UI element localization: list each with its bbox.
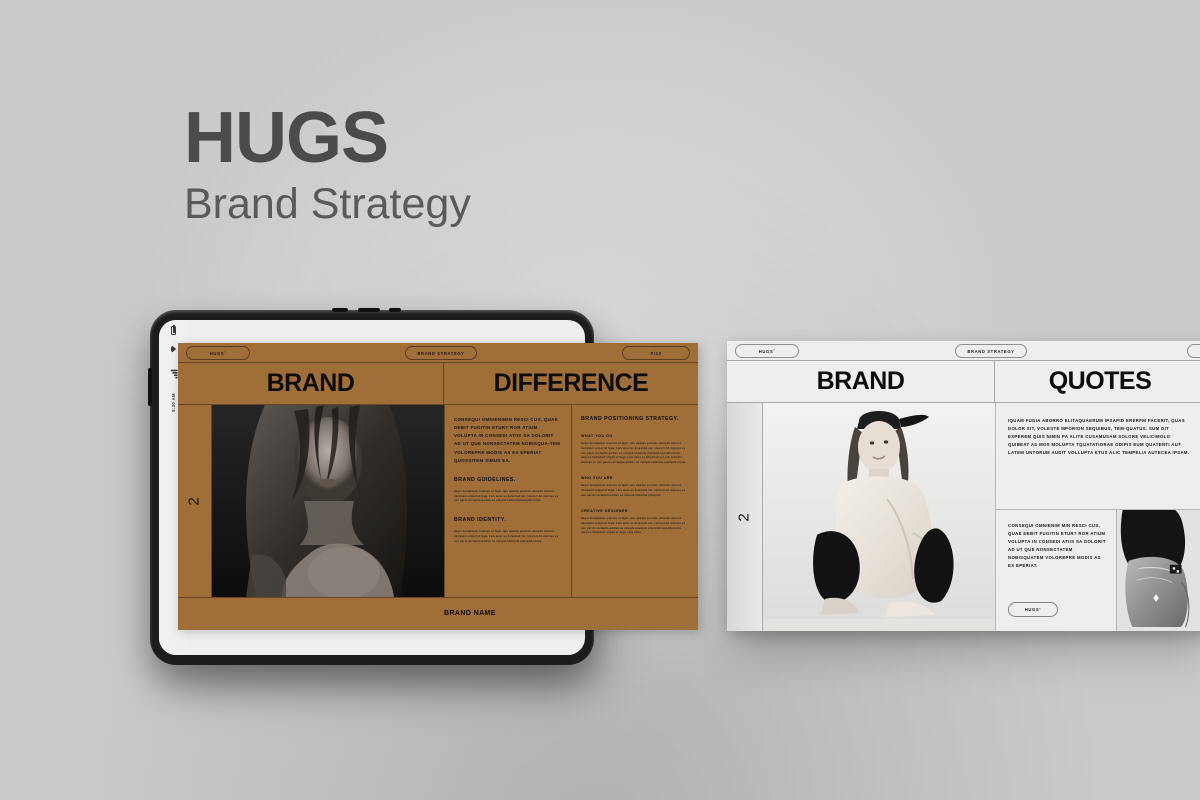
- positioning-strategy-title: BRAND POSITIONING STRATEGY.: [581, 416, 689, 424]
- slide2-brand-pill-center[interactable]: BRAND STRATEGY: [955, 344, 1027, 358]
- slide1-page-number: 2: [186, 497, 203, 505]
- slide1-page-number-column: 2: [178, 405, 212, 597]
- block-body-brand-guidelines: Sequi berupiatem reminus ut fugit, quo q…: [454, 490, 562, 505]
- slide2-brand-pill-left-label: HUGS: [759, 349, 774, 354]
- body-creative-designer: Sequi berupiatem reminus ut fugit, quo q…: [581, 517, 689, 537]
- body-what-you-do: Sequi berupiatem reminus ut fugit, quo q…: [581, 442, 689, 466]
- brand-pill-left[interactable]: HUGS°: [186, 346, 250, 360]
- body-who-you-are: Sequi berupiatem reminus ut fugit, quo q…: [581, 484, 689, 499]
- slide-brand-difference[interactable]: HUGS° BRAND STRATEGY P/13 BRAND DIFFEREN…: [178, 343, 698, 630]
- slide2-degree-icon: °: [773, 349, 775, 353]
- slide1-topbar: HUGS° BRAND STRATEGY P/13: [178, 343, 698, 363]
- block-title-brand-guidelines: BRAND GUIDELINES.: [454, 477, 562, 485]
- slide2-photo: [763, 403, 995, 631]
- slide1-intro-paragraph: CONSEQUI OMNIENIMIN RESCI CUS, QUAE DEBI…: [454, 416, 562, 465]
- denim-photo-icon: [1117, 510, 1200, 627]
- slide2-heading-row: BRAND QUOTES: [727, 361, 1200, 403]
- slide2-right-panel: IQUAM FUGIA ABORRO ELITAQUAERUM IPSAPID …: [995, 403, 1200, 631]
- slide2-bottom-brand-pill[interactable]: HUGS°: [1008, 602, 1058, 617]
- heading-right-cell: DIFFERENCE: [444, 363, 698, 404]
- heading-difference: DIFFERENCE: [494, 371, 649, 396]
- battery-icon: [171, 326, 176, 335]
- slide2-heading-brand: BRAND: [817, 369, 905, 394]
- cover-title-block: HUGS Brand Strategy: [184, 104, 471, 232]
- slide2-heading-left-cell: BRAND: [727, 361, 995, 402]
- slide-brand-quotes[interactable]: HUGS° BRAND STRATEGY BRAND QUOTES 2: [727, 341, 1200, 631]
- page-subtitle: Brand Strategy: [184, 178, 471, 232]
- slide2-lower-text: CONSEQUI OMNIENIM MIN RESCI CUS, QUAE DE…: [996, 510, 1116, 631]
- slide2-brand-pill-left[interactable]: HUGS°: [735, 344, 799, 358]
- slide2-page-indicator-pill[interactable]: [1187, 344, 1200, 358]
- page-title: HUGS: [184, 104, 471, 172]
- volume-up-button[interactable]: [332, 308, 348, 312]
- slide2-lower-paragraph: CONSEQUI OMNIENIM MIN RESCI CUS, QUAE DE…: [1008, 522, 1106, 570]
- slide2-page-number-column: 2: [727, 403, 763, 631]
- volume-down-button[interactable]: [358, 308, 380, 312]
- footer-brand-name: BRAND NAME: [444, 610, 496, 617]
- slide2-heading-quotes: QUOTES: [1049, 369, 1152, 394]
- slide2-page-number: 2: [736, 513, 753, 521]
- slide2-bottom-brand-label: HUGS: [1025, 607, 1040, 612]
- portrait-photo-icon: [212, 405, 444, 597]
- brand-pill-center[interactable]: BRAND STRATEGY: [405, 346, 477, 360]
- slide1-heading-row: BRAND DIFFERENCE: [178, 363, 698, 405]
- slide2-quote-paragraph: IQUAM FUGIA ABORRO ELITAQUAERUM IPSAPID …: [1008, 417, 1193, 457]
- page-indicator-label: P/13: [650, 351, 661, 356]
- slide2-brand-pill-center-label: BRAND STRATEGY: [967, 349, 1014, 354]
- side-button[interactable]: [148, 368, 152, 406]
- degree-icon: °: [224, 351, 226, 355]
- slide2-topbar: HUGS° BRAND STRATEGY: [727, 341, 1200, 361]
- slide1-photo: [212, 405, 444, 597]
- slide2-body: 2: [727, 403, 1200, 631]
- slide1-body: 2: [178, 405, 698, 597]
- slide1-column-right: BRAND POSITIONING STRATEGY. WHAT YOU DO …: [571, 405, 698, 597]
- slide2-quote-block: IQUAM FUGIA ABORRO ELITAQUAERUM IPSAPID …: [996, 403, 1200, 509]
- slide1-column-left: CONSEQUI OMNIENIMIN RESCI CUS, QUAE DEBI…: [444, 405, 571, 597]
- slide1-footer: BRAND NAME: [178, 597, 698, 629]
- block-title-brand-identity: BRAND IDENTITY.: [454, 517, 562, 525]
- status-time: 9:30 AM: [171, 393, 176, 412]
- brand-pill-left-label: HUGS: [210, 351, 225, 356]
- brand-pill-center-label: BRAND STRATEGY: [417, 351, 464, 356]
- heading-left-cell: BRAND: [178, 363, 444, 404]
- seated-woman-photo-icon: [763, 403, 995, 631]
- slide2-heading-right-cell: QUOTES: [995, 361, 1200, 402]
- page-indicator-pill[interactable]: P/13: [622, 346, 690, 360]
- slide2-secondary-photo: [1116, 510, 1200, 631]
- slide2-lower-block: CONSEQUI OMNIENIM MIN RESCI CUS, QUAE DE…: [996, 509, 1200, 631]
- power-button[interactable]: [389, 308, 401, 312]
- block-body-brand-identity: Sequi berupiatem reminus ut fugit, quo q…: [454, 530, 562, 545]
- heading-brand: BRAND: [267, 371, 355, 396]
- slide2-bottom-degree-icon: °: [1039, 608, 1041, 612]
